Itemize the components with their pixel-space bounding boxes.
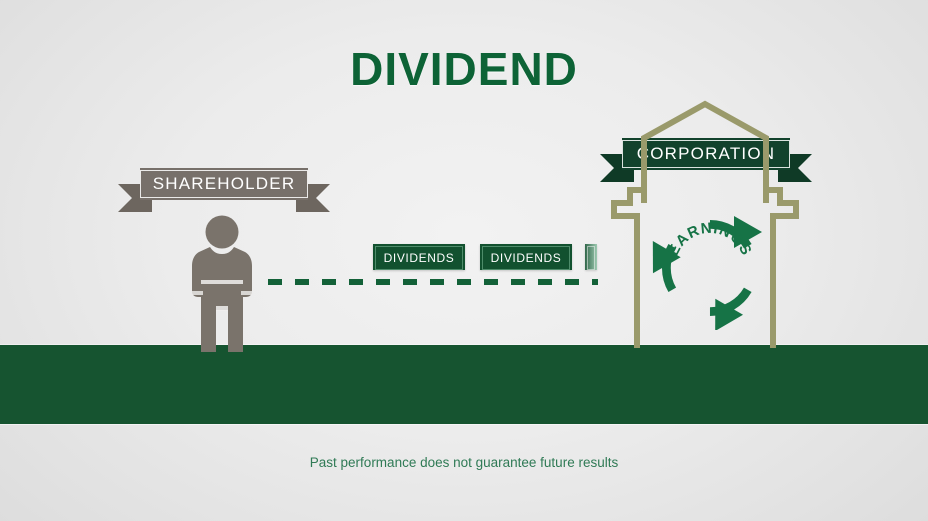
disclaimer-text: Past performance does not guarantee futu… bbox=[0, 455, 928, 470]
shareholder-label: SHAREHOLDER bbox=[140, 170, 308, 198]
infographic-canvas: DIVIDEND SHAREHOLDER CORPORATION bbox=[0, 0, 928, 521]
chip-inner bbox=[587, 246, 595, 270]
page-title: DIVIDEND bbox=[0, 42, 928, 96]
dividends-chip-partial bbox=[585, 244, 597, 270]
chip-inner: DIVIDENDS bbox=[482, 246, 570, 270]
shareholder-banner: SHAREHOLDER bbox=[118, 168, 330, 218]
person-icon bbox=[186, 214, 258, 359]
dashed-flow-line bbox=[268, 279, 598, 285]
dividends-chip-label: DIVIDENDS bbox=[384, 251, 455, 265]
chip-inner: DIVIDENDS bbox=[375, 246, 463, 270]
dividends-chip-label: DIVIDENDS bbox=[491, 251, 562, 265]
recycle-arrows-icon: EARNINGS bbox=[648, 206, 772, 335]
dividends-chip: DIVIDENDS bbox=[480, 244, 572, 270]
ribbon-plate: SHAREHOLDER bbox=[140, 168, 308, 200]
dividends-chip: DIVIDENDS bbox=[373, 244, 465, 270]
ground-band bbox=[0, 345, 928, 424]
